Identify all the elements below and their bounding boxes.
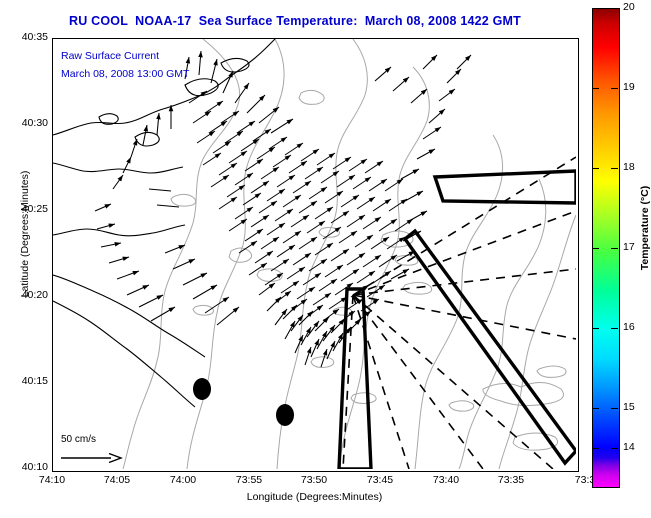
- plot-area: Raw Surface Current March 08, 2008 13:00…: [52, 38, 579, 472]
- colorbar-label: 19: [623, 81, 635, 93]
- colorbar-label: 16: [623, 321, 635, 333]
- x-tick: 73:35: [481, 474, 541, 486]
- x-tick: 74:10: [22, 474, 82, 486]
- colorbar-tick: [592, 248, 599, 249]
- colorbar-label: 15: [623, 401, 635, 413]
- y-tick: 40:10: [4, 461, 48, 473]
- sst-map-figure: RU COOL NOAA-17 Sea Surface Temperature:…: [0, 0, 651, 518]
- colorbar-tick: [592, 448, 599, 449]
- station-east-marker: [276, 404, 294, 426]
- x-tick: 73:50: [284, 474, 344, 486]
- colorbar-label: 14: [623, 441, 635, 453]
- scalebar-arrow-icon: [61, 452, 123, 466]
- colorbar-tick: [592, 168, 599, 169]
- map-canvas: [53, 39, 576, 469]
- colorbar-label: 17: [623, 241, 635, 253]
- x-tick: 73:40: [416, 474, 476, 486]
- colorbar-tick: [611, 408, 618, 409]
- colorbar-tick: [611, 248, 618, 249]
- figure-title: RU COOL NOAA-17 Sea Surface Temperature:…: [0, 14, 590, 28]
- radar-beam-footprints: [339, 171, 576, 469]
- x-tick: 74:05: [87, 474, 147, 486]
- colorbar-label: 18: [623, 161, 635, 173]
- colorbar-tick: [592, 8, 599, 9]
- colorbar-tick: [611, 88, 618, 89]
- surface-current-vectors: [95, 51, 471, 367]
- radar-station-markers: [193, 378, 294, 426]
- colorbar-tick: [611, 328, 618, 329]
- y-tick: 40:15: [4, 375, 48, 387]
- beam-footprint-upper: [435, 171, 576, 203]
- station-west-marker: [193, 378, 211, 400]
- x-tick: 74:00: [153, 474, 213, 486]
- colorbar-tick: [592, 408, 599, 409]
- colorbar-tick: [592, 88, 599, 89]
- colorbar-title: Temperature (°C): [639, 108, 651, 348]
- colorbar-tick: [592, 328, 599, 329]
- scalebar-label: 50 cm/s: [61, 434, 96, 445]
- bathymetry-contours: [123, 39, 576, 469]
- y-axis-title: Latitude (Degrees:Minutes): [19, 114, 31, 354]
- colorbar-tick: [611, 8, 618, 9]
- y-tick: 40:35: [4, 31, 48, 43]
- colorbar-tick: [611, 168, 618, 169]
- x-tick: 73:45: [350, 474, 410, 486]
- colorbar-label: 20: [623, 1, 635, 13]
- annotation-line-2: March 08, 2008 13:00 GMT: [61, 68, 189, 80]
- x-axis-title: Longitude (Degrees:Minutes): [52, 491, 577, 503]
- x-tick: 73:55: [219, 474, 279, 486]
- colorbar-tick: [611, 448, 618, 449]
- x-axis-ticks: 74:10 74:05 74:00 73:55 73:50 73:45 73:4…: [52, 474, 577, 490]
- annotation-line-1: Raw Surface Current: [61, 50, 159, 62]
